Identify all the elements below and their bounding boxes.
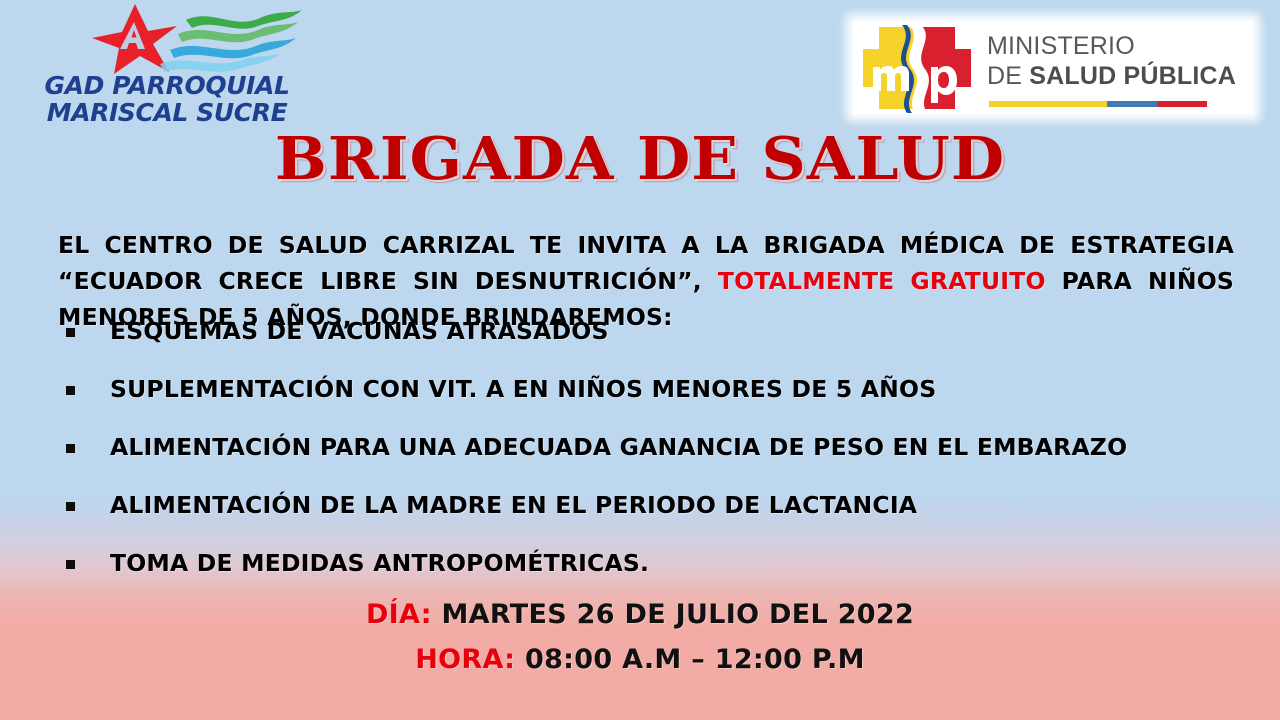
event-date-line: DÍA: MARTES 26 DE JULIO DEL 2022 <box>0 592 1280 637</box>
event-details: DÍA: MARTES 26 DE JULIO DEL 2022 HORA: 0… <box>0 592 1280 682</box>
star-with-waves-icon <box>74 4 304 76</box>
square-bullet-icon <box>66 560 75 569</box>
services-list: ESQUEMAS DE VACUNAS ATRASADOS SUPLEMENTA… <box>58 313 1238 603</box>
square-bullet-icon <box>66 386 75 395</box>
msp-line1-word: MINISTERIO <box>987 32 1135 60</box>
list-item-label: ALIMENTACIÓN DE LA MADRE EN EL PERIODO D… <box>110 491 917 519</box>
square-bullet-icon <box>66 502 75 511</box>
event-date-label: DÍA: <box>366 599 432 630</box>
ministerio-salud-publica-logo: MINISTERIO DE SALUD PÚBLICA <box>853 21 1253 114</box>
msp-line2-word-salud-publica: SALUD PÚBLICA <box>1029 62 1236 90</box>
event-date-value: MARTES 26 DE JULIO DEL 2022 <box>432 599 914 630</box>
msp-cross-icon <box>857 23 977 113</box>
list-item-label: ESQUEMAS DE VACUNAS ATRASADOS <box>110 317 609 345</box>
gad-parroquial-logo: GAD PARROQUIAL MARISCAL SUCRE <box>14 4 314 130</box>
list-item: ALIMENTACIÓN DE LA MADRE EN EL PERIODO D… <box>58 487 1238 523</box>
list-item-label: TOMA DE MEDIDAS ANTROPOMÉTRICAS. <box>110 549 649 577</box>
event-time-value: 08:00 A.M – 12:00 P.M <box>515 644 864 675</box>
ecuador-tricolor-bar <box>989 101 1207 107</box>
tricolor-yellow <box>989 101 1107 107</box>
event-time-line: HORA: 08:00 A.M – 12:00 P.M <box>0 637 1280 682</box>
list-item-label: ALIMENTACIÓN PARA UNA ADECUADA GANANCIA … <box>110 433 1127 461</box>
tricolor-blue <box>1107 101 1157 107</box>
poster-title: BRIGADA DE SALUD <box>0 128 1280 190</box>
list-item: SUPLEMENTACIÓN CON VIT. A EN NIÑOS MENOR… <box>58 371 1238 407</box>
list-item: ESQUEMAS DE VACUNAS ATRASADOS <box>58 313 1238 349</box>
gad-name-line2: MARISCAL SUCRE <box>22 99 312 126</box>
square-bullet-icon <box>66 444 75 453</box>
tricolor-red <box>1157 101 1207 107</box>
event-time-label: HORA: <box>415 644 515 675</box>
list-item-label: SUPLEMENTACIÓN CON VIT. A EN NIÑOS MENOR… <box>110 375 936 403</box>
gad-name-line1: GAD PARROQUIAL <box>22 72 312 99</box>
gad-logo-name: GAD PARROQUIAL MARISCAL SUCRE <box>22 72 312 126</box>
list-item: TOMA DE MEDIDAS ANTROPOMÉTRICAS. <box>58 545 1238 581</box>
list-item: ALIMENTACIÓN PARA UNA ADECUADA GANANCIA … <box>58 429 1238 465</box>
msp-text-line2: DE SALUD PÚBLICA <box>987 61 1245 91</box>
msp-logo-text: MINISTERIO DE SALUD PÚBLICA <box>987 31 1245 91</box>
poster-canvas: GAD PARROQUIAL MARISCAL SUCRE MINISTERIO… <box>0 0 1280 720</box>
msp-text-line1: MINISTERIO <box>987 31 1245 61</box>
intro-highlight-gratuito: TOTALMENTE GRATUITO <box>718 267 1046 295</box>
square-bullet-icon <box>66 328 75 337</box>
msp-line2-word-de: DE <box>987 62 1022 90</box>
